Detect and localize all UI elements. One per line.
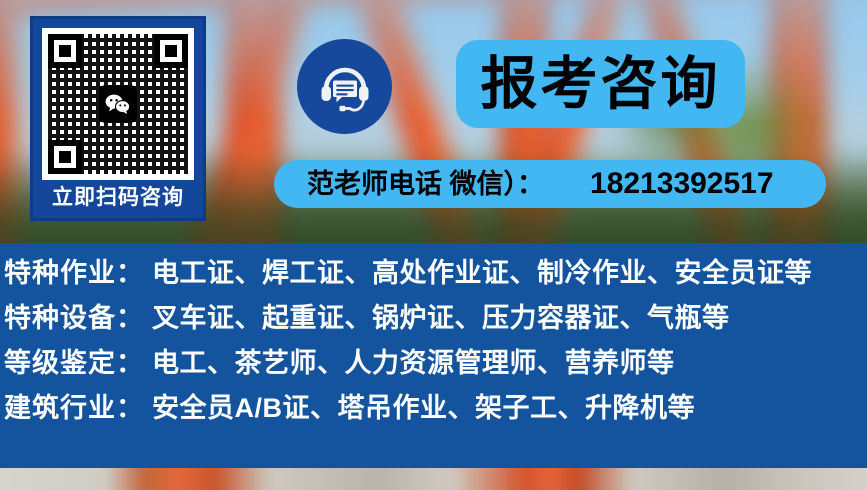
qr-quiet-zone-left bbox=[42, 28, 48, 180]
category-row-grade-appraisal: 等级鉴定： 电工、茶艺师、人力资源管理师、营养师等 bbox=[0, 350, 867, 395]
promo-banner: 立即扫码咨询 报考咨询 范老师电话 微信）： 18213392517 bbox=[0, 0, 867, 490]
category-value: 安全员A/B证、塔吊作业、架子工、升降机等 bbox=[152, 395, 695, 422]
enrollment-consult-label: 报考咨询 bbox=[481, 56, 721, 113]
category-value: 电工、茶艺师、人力资源管理师、营养师等 bbox=[152, 350, 675, 377]
qr-finder-bottom-left bbox=[48, 140, 82, 174]
qr-quiet-zone-right bbox=[188, 28, 194, 180]
qr-quiet-zone-bottom bbox=[42, 174, 194, 180]
category-value: 电工证、焊工证、高处作业证、制冷作业、安全员证等 bbox=[152, 260, 812, 287]
category-label: 特种设备： bbox=[4, 305, 152, 332]
contact-phone-number[interactable]: 18213392517 bbox=[590, 169, 774, 199]
qr-caption: 立即扫码咨询 bbox=[52, 187, 184, 208]
category-row-special-operations: 特种作业： 电工证、焊工证、高处作业证、制冷作业、安全员证等 bbox=[0, 260, 867, 305]
contact-phone-pill[interactable]: 范老师电话 微信）： 18213392517 bbox=[274, 160, 826, 208]
contact-label: 范老师电话 微信）： bbox=[307, 171, 544, 198]
qr-finder-top-left bbox=[48, 34, 82, 68]
wechat-icon bbox=[99, 85, 137, 123]
category-row-special-equipment: 特种设备： 叉车证、起重证、锅炉证、压力容器证、气瓶等 bbox=[0, 305, 867, 350]
headset-support-icon[interactable] bbox=[297, 39, 392, 134]
category-label: 特种作业： bbox=[4, 260, 152, 287]
certificate-categories-panel: 特种作业： 电工证、焊工证、高处作业证、制冷作业、安全员证等 特种设备： 叉车证… bbox=[0, 243, 867, 468]
enrollment-consult-button[interactable]: 报考咨询 bbox=[456, 40, 745, 128]
qr-quiet-zone-top bbox=[42, 28, 194, 34]
qr-code-card[interactable]: 立即扫码咨询 bbox=[30, 16, 206, 221]
category-value: 叉车证、起重证、锅炉证、压力容器证、气瓶等 bbox=[152, 305, 730, 332]
category-label: 建筑行业： bbox=[4, 395, 152, 422]
category-row-construction-industry: 建筑行业： 安全员A/B证、塔吊作业、架子工、升降机等 bbox=[0, 395, 867, 440]
qr-code-image[interactable] bbox=[42, 28, 194, 180]
qr-finder-top-right bbox=[154, 34, 188, 68]
background-photo-bottom-strip bbox=[0, 468, 867, 490]
category-label: 等级鉴定： bbox=[4, 350, 152, 377]
